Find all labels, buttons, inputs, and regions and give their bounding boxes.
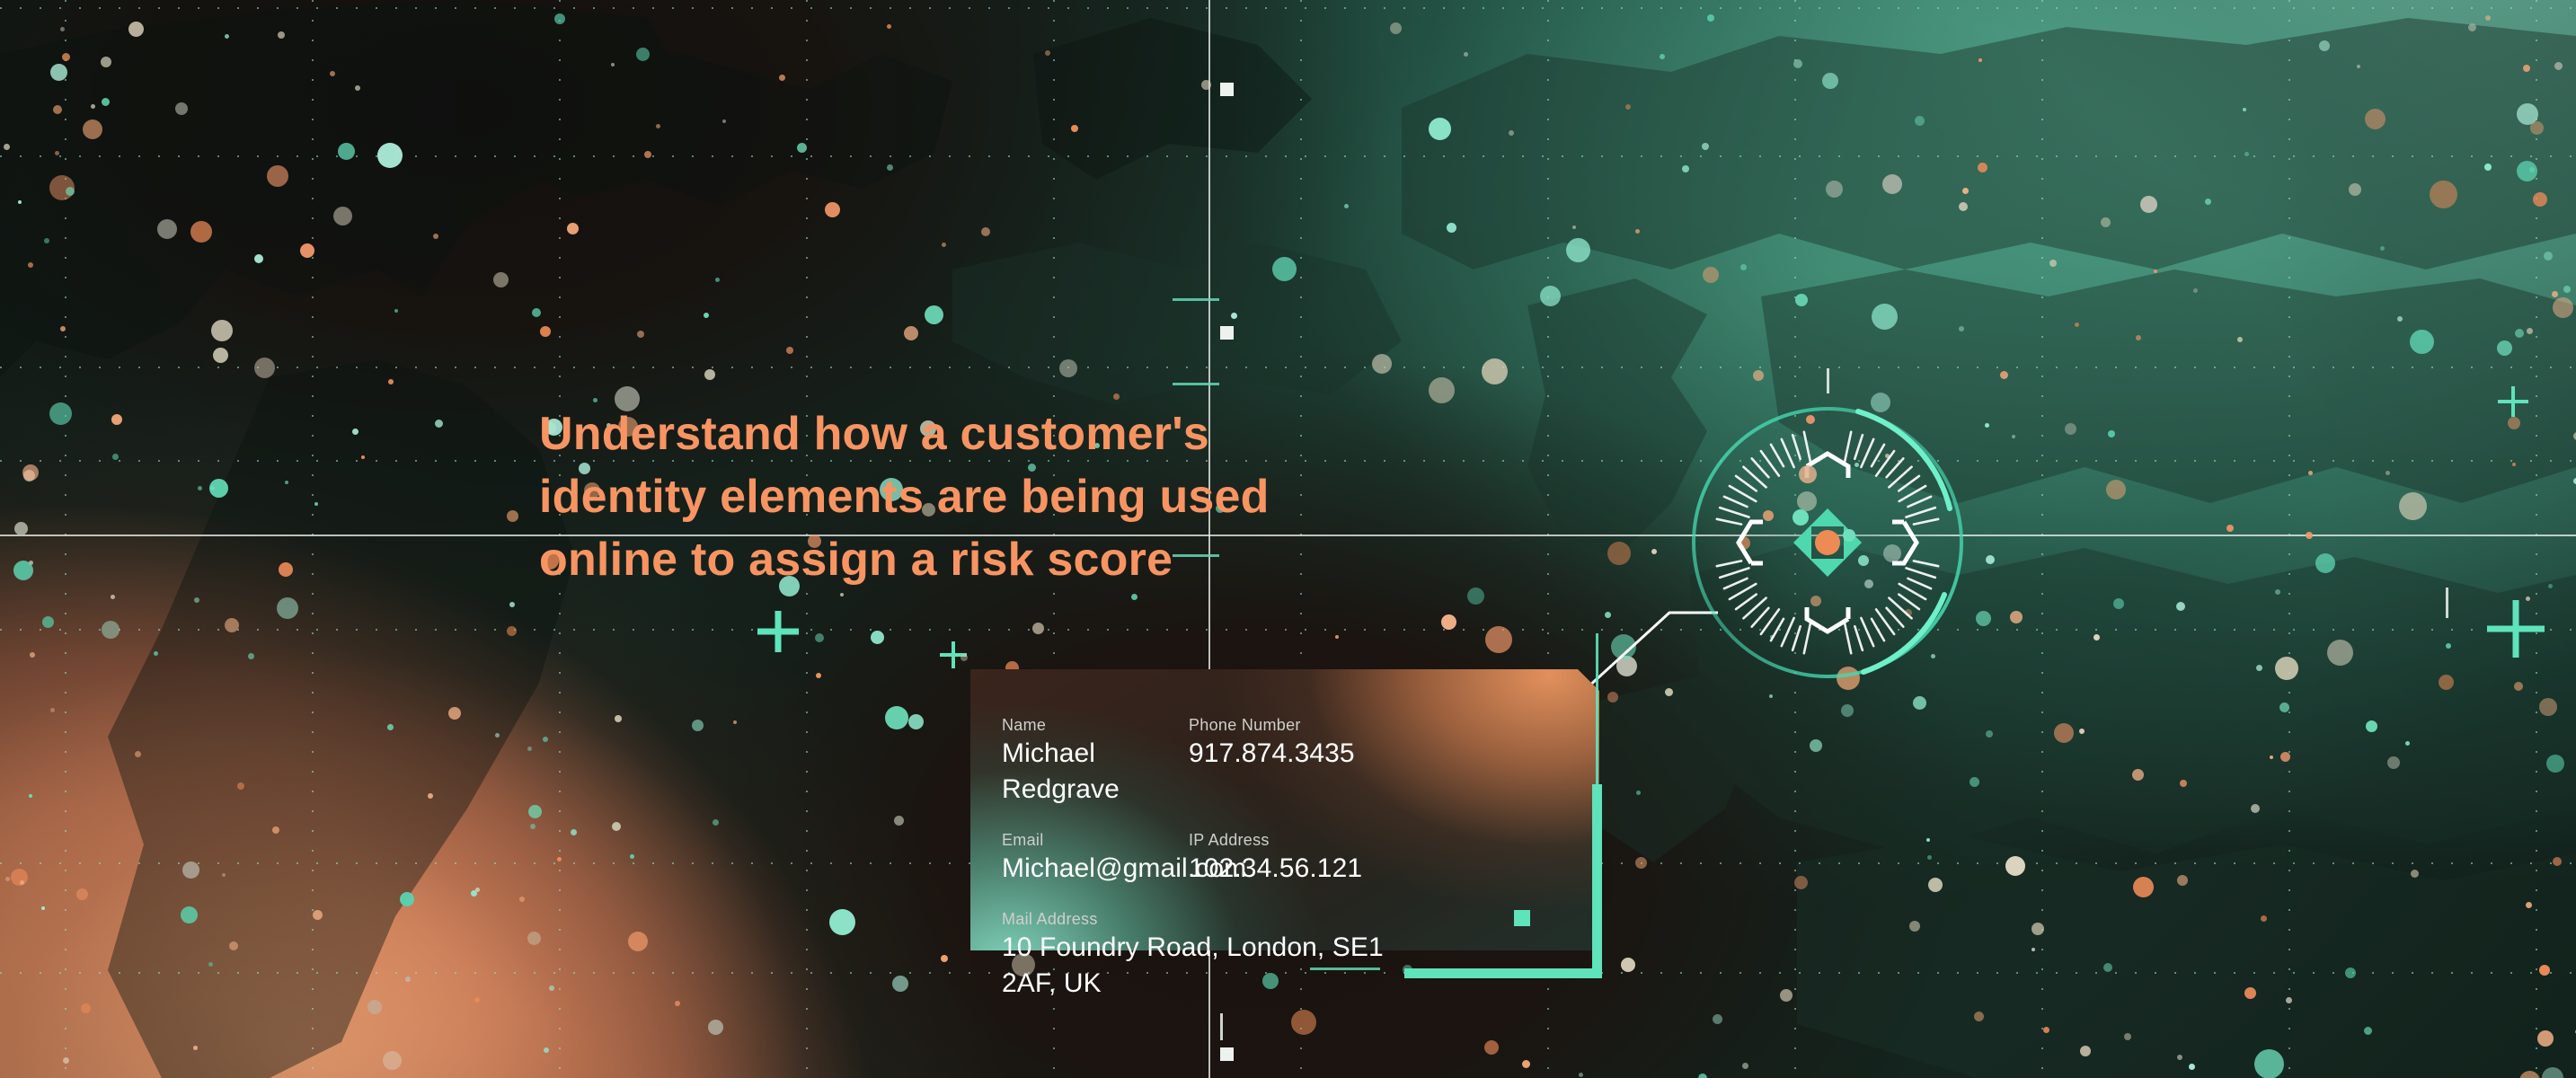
card-accent-thin-line [1596, 633, 1598, 788]
field-mail-address: Mail Address 10 Foundry Road, London, SE… [1002, 908, 1433, 1002]
card-row-2: Email Michael@gmail.com IP Address 102.3… [1002, 829, 1599, 887]
marker-dash [1173, 383, 1219, 385]
hero-banner: Understand how a customer's identity ele… [0, 0, 2576, 1078]
field-label: IP Address [1189, 829, 1376, 851]
headline-line-1: Understand how a customer's [539, 402, 1438, 465]
field-value: Michael Redgrave [1002, 736, 1189, 808]
crosshair-marker [2498, 386, 2528, 417]
marker-dash [1173, 298, 1219, 301]
grid-line-vertical [2041, 0, 2043, 1078]
grid-line-vertical [2536, 0, 2537, 1078]
field-email: Email Michael@gmail.com [1002, 829, 1189, 887]
crosshair-marker [757, 611, 799, 652]
marker-tick [2446, 588, 2448, 618]
field-ip-address: IP Address 102.34.56.121 [1189, 829, 1376, 887]
field-phone-number: Phone Number 917.874.3435 [1189, 714, 1376, 808]
grid-line-vertical [65, 0, 66, 1078]
card-row-3: Mail Address 10 Foundry Road, London, SE… [1002, 908, 1599, 1002]
marker-square [1220, 1047, 1234, 1061]
field-value: Michael@gmail.com [1002, 851, 1189, 887]
headline-line-3: online to assign a risk score [539, 528, 1438, 591]
card-accent-square [1514, 910, 1530, 926]
marker-tick [1827, 368, 1829, 393]
field-label: Phone Number [1189, 714, 1376, 736]
field-value: 10 Foundry Road, London, SE1 2AF, UK [1002, 930, 1433, 1002]
grid-line-horizontal [0, 7, 2576, 9]
card-accent-horizontal [1404, 968, 1602, 978]
grid-line-horizontal [0, 367, 2576, 368]
field-label: Name [1002, 714, 1189, 736]
marker-tick [1220, 1013, 1223, 1040]
field-name: Name Michael Redgrave [1002, 714, 1189, 808]
card-row-1: Name Michael Redgrave Phone Number 917.8… [1002, 714, 1599, 808]
page-title: Understand how a customer's identity ele… [539, 402, 1438, 591]
field-label: Mail Address [1002, 908, 1433, 930]
field-value: 917.874.3435 [1189, 736, 1376, 772]
identity-data-card[interactable]: Name Michael Redgrave Phone Number 917.8… [970, 669, 1599, 950]
field-value: 102.34.56.121 [1189, 851, 1376, 887]
card-accent-vertical [1592, 784, 1602, 978]
marker-square [1220, 83, 1234, 96]
headline-line-2: identity elements are being used [539, 465, 1438, 528]
grid-line-vertical [2288, 0, 2290, 1078]
crosshair-marker [2487, 600, 2545, 658]
grid-line-horizontal [0, 629, 2576, 631]
identity-scanner-radar [1687, 402, 1968, 683]
marker-square [1220, 326, 1234, 340]
field-label: Email [1002, 829, 1189, 851]
